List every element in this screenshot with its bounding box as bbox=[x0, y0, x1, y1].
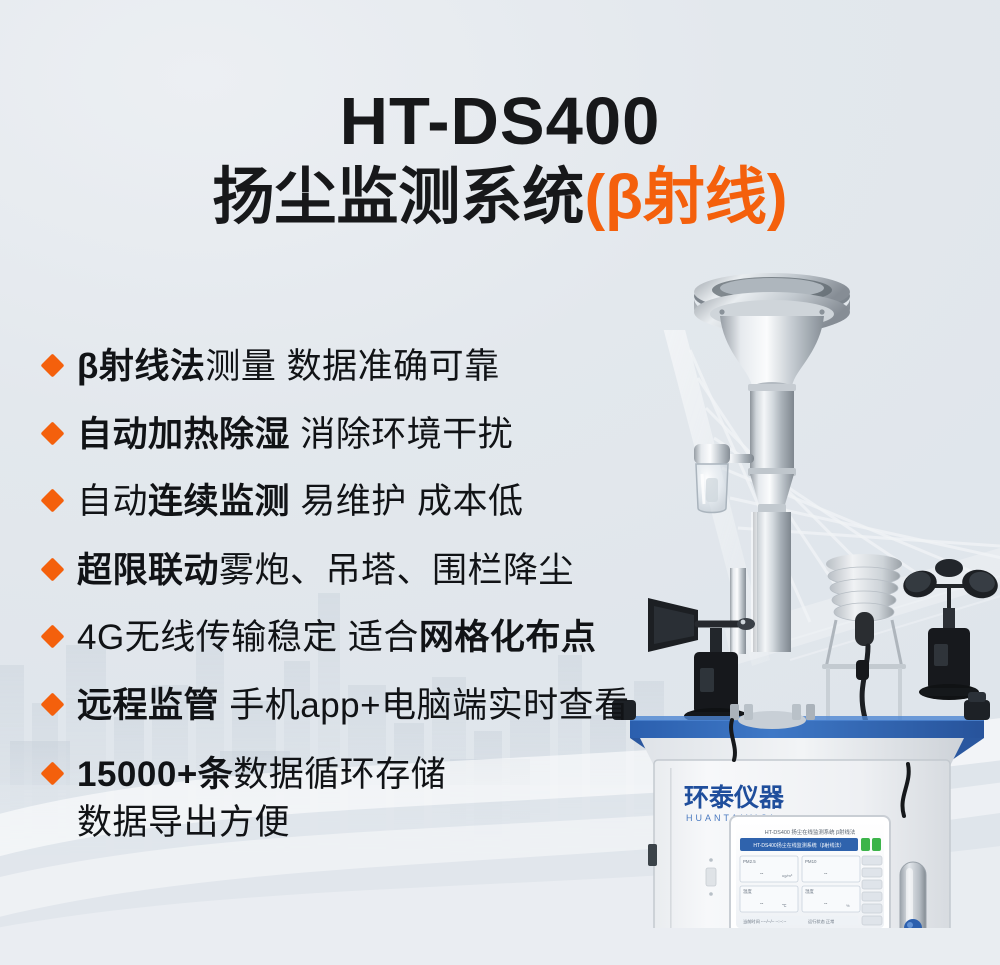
screen-field-label: 温度 bbox=[743, 888, 752, 895]
feature-bold: 15000+条 bbox=[77, 755, 233, 794]
sampling-tube-upper bbox=[748, 384, 796, 476]
svg-text:℃: ℃ bbox=[782, 903, 787, 908]
feature-text: 自动加热除湿 消除环境干扰 bbox=[77, 412, 513, 458]
touchscreen: HT-DS400 扬尘在线监测系统 β射线法 HT-DS400扬尘在线监测系统（… bbox=[730, 816, 890, 928]
feature-text: 15000+条数据循环存储数据导出方便 bbox=[77, 752, 446, 845]
feature-text: 远程监管 手机app+电脑端实时查看 bbox=[77, 683, 630, 729]
list-item: 15000+条数据循环存储数据导出方便 bbox=[44, 752, 704, 845]
diamond-bullet-icon bbox=[40, 557, 64, 581]
screen-field-label: PM2.5 bbox=[743, 859, 756, 864]
screen-field-value: -- bbox=[760, 871, 764, 877]
diamond-bullet-icon bbox=[40, 761, 64, 785]
anemometer bbox=[900, 559, 1000, 700]
feature-normal: 易维护 成本低 bbox=[290, 482, 523, 521]
screen-banner: HT-DS400扬尘在线监测系统（β射线法） bbox=[753, 842, 844, 849]
feature-normal: 测量 数据准确可靠 bbox=[205, 347, 499, 386]
feature-normal: 消除环境干扰 bbox=[290, 415, 513, 454]
svg-text:ug/m³: ug/m³ bbox=[782, 873, 793, 878]
svg-text:%: % bbox=[846, 903, 850, 908]
screen-field-label: 湿度 bbox=[805, 888, 814, 895]
feature-bold: 自动加热除湿 bbox=[77, 415, 290, 454]
screen-field-value: -- bbox=[760, 901, 764, 907]
diamond-bullet-icon bbox=[40, 353, 64, 377]
diamond-bullet-icon bbox=[40, 421, 64, 445]
feature-bold: 连续监测 bbox=[148, 482, 290, 521]
feature-subline: 数据导出方便 bbox=[77, 800, 446, 846]
product-name-accent: (β射线) bbox=[584, 163, 787, 232]
product-name-main: 扬尘监测系统 bbox=[212, 163, 584, 232]
list-item: 超限联动雾炮、吊塔、围栏降尘 bbox=[44, 548, 704, 594]
feature-lead: 自动 bbox=[77, 482, 148, 521]
feature-text: β射线法测量 数据准确可靠 bbox=[77, 344, 500, 390]
list-item: 自动加热除湿 消除环境干扰 bbox=[44, 412, 704, 458]
screen-field-label: PM10 bbox=[805, 859, 817, 864]
sampling-inlet-head bbox=[694, 273, 850, 394]
product-poster: HT-DS400 扬尘监测系统(β射线) β射线法测量 数据准确可靠 自动加热除… bbox=[0, 0, 1000, 965]
list-item: 远程监管 手机app+电脑端实时查看 bbox=[44, 683, 704, 729]
feature-bold: 超限联动 bbox=[77, 551, 219, 590]
diamond-bullet-icon bbox=[40, 692, 64, 716]
feature-lead: 4G无线传输稳定 适合 bbox=[77, 618, 419, 657]
screen-status: 运行状态 正常 bbox=[808, 918, 834, 925]
feature-bold: 远程监管 bbox=[77, 686, 219, 725]
screen-title: HT-DS400 扬尘在线监测系统 β射线法 bbox=[765, 828, 856, 836]
screen-footer: 当前时间 ----/--/-- --:--:-- bbox=[743, 918, 787, 925]
product-model-title: HT-DS400 bbox=[0, 86, 1000, 157]
feature-normal: 手机app+电脑端实时查看 bbox=[219, 686, 630, 725]
product-name-title: 扬尘监测系统(β射线) bbox=[0, 163, 1000, 232]
feature-text: 自动连续监测 易维护 成本低 bbox=[77, 479, 523, 525]
feature-text: 超限联动雾炮、吊塔、围栏降尘 bbox=[77, 548, 574, 594]
screen-field-value: -- bbox=[824, 901, 828, 907]
door-handle bbox=[900, 862, 926, 928]
feature-bold: 网格化布点 bbox=[419, 618, 597, 657]
list-item: 自动连续监测 易维护 成本低 bbox=[44, 479, 704, 525]
list-item: β射线法测量 数据准确可靠 bbox=[44, 344, 704, 390]
feature-list: β射线法测量 数据准确可靠 自动加热除湿 消除环境干扰 自动连续监测 易维护 成… bbox=[44, 344, 704, 862]
title-block: HT-DS400 扬尘监测系统(β射线) bbox=[0, 86, 1000, 232]
feature-text: 4G无线传输稳定 适合网格化布点 bbox=[77, 615, 596, 661]
diamond-bullet-icon bbox=[40, 624, 64, 648]
feature-normal: 数据循环存储 bbox=[233, 755, 446, 794]
feature-bold: β射线法 bbox=[77, 347, 205, 386]
feature-normal: 雾炮、吊塔、围栏降尘 bbox=[219, 551, 574, 590]
diamond-bullet-icon bbox=[40, 488, 64, 512]
screen-field-value: -- bbox=[824, 871, 828, 877]
list-item: 4G无线传输稳定 适合网格化布点 bbox=[44, 615, 704, 661]
